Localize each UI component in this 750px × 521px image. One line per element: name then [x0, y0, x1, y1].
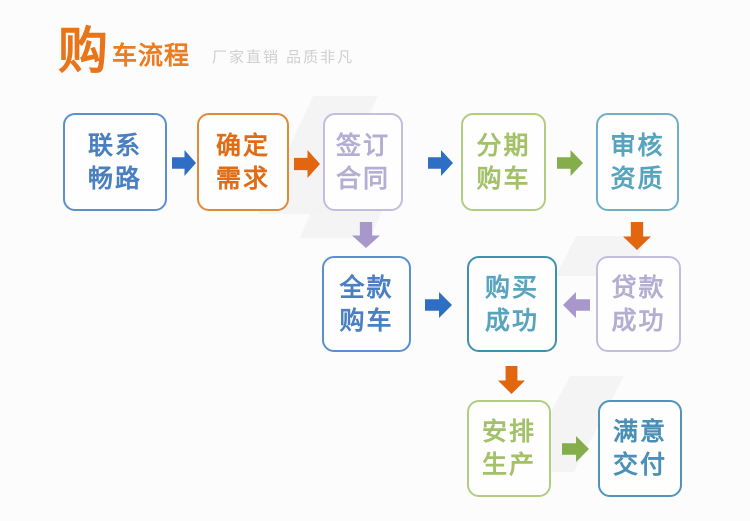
node-label-line1: 审核: [610, 131, 664, 161]
node-label-line2: 成功: [611, 306, 665, 336]
node-label-line1: 签订: [336, 131, 390, 161]
node-label-line2: 购车: [339, 306, 393, 336]
flowchart-canvas: 购 车流程 厂家直销 品质非凡 联系畅路确定需求签订合同分期购车审核资质全款购车…: [0, 0, 750, 521]
node-label-line1: 贷款: [611, 273, 665, 303]
arrow-contract-to-full-payment-down-icon: [352, 222, 380, 248]
arrow-full-payment-to-purchase-right-icon: [425, 292, 452, 318]
node-label-line2: 畅路: [88, 164, 142, 194]
node-label-line2: 生产: [482, 450, 536, 480]
node-label-line2: 交付: [613, 450, 667, 480]
node-label-line2: 成功: [485, 306, 539, 336]
flow-node-loan-ok[interactable]: 贷款成功: [596, 256, 681, 352]
arrow-contract-to-installment-right-icon: [428, 150, 453, 176]
flow-node-contact[interactable]: 联系畅路: [63, 113, 167, 211]
flow-node-delivery-ok[interactable]: 满意交付: [598, 400, 682, 497]
node-label-line1: 满意: [613, 417, 667, 447]
arrow-production-to-delivery-right-icon: [562, 436, 589, 462]
node-label-line1: 确定: [216, 131, 270, 161]
flow-node-arrange-prod[interactable]: 安排生产: [467, 400, 551, 497]
arrow-loan-to-purchase-left-icon: [563, 292, 590, 318]
node-label-line1: 购买: [485, 273, 539, 303]
node-label-line1: 全款: [339, 273, 393, 303]
page-title: 车流程: [112, 41, 190, 71]
flow-node-sign-contract[interactable]: 签订合同: [323, 113, 403, 211]
arrow-contact-to-confirm-right-icon: [172, 150, 196, 176]
node-label-line2: 购车: [476, 164, 530, 194]
node-label-line2: 需求: [216, 164, 270, 194]
flow-node-purchase-ok[interactable]: 购买成功: [467, 256, 557, 352]
node-label-line1: 联系: [88, 131, 142, 161]
arrow-confirm-to-contract-right-icon: [294, 150, 320, 178]
title-logo-character: 购: [58, 26, 108, 76]
flow-node-installment[interactable]: 分期购车: [461, 113, 546, 211]
node-label-line1: 安排: [482, 417, 536, 447]
arrow-purchase-to-production-down-icon: [498, 366, 525, 394]
node-label-line2: 资质: [610, 164, 664, 194]
flow-node-review-quals[interactable]: 审核资质: [596, 113, 679, 211]
flow-node-full-payment[interactable]: 全款购车: [322, 256, 411, 352]
arrow-review-to-loan-down-icon: [623, 222, 651, 250]
page-subtitle: 厂家直销 品质非凡: [212, 48, 354, 68]
node-label-line1: 分期: [476, 131, 530, 161]
page-header: 购 车流程 厂家直销 品质非凡: [58, 14, 354, 76]
arrow-installment-to-review-right-icon: [557, 150, 583, 176]
flow-node-confirm-needs[interactable]: 确定需求: [197, 113, 289, 211]
node-label-line2: 合同: [336, 164, 390, 194]
